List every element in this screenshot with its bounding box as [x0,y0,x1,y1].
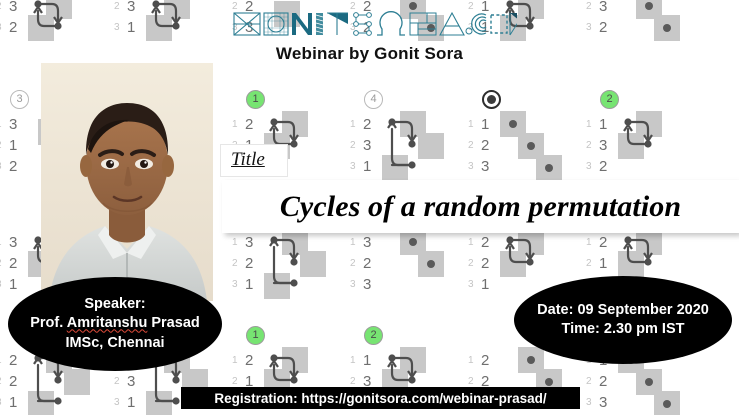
permutation-row: 11 [468,116,489,133]
permutation-row: 33 [468,158,489,175]
webinar-title: Cycles of a random permutation [280,190,681,224]
marker-pip [487,95,496,104]
webinar-poster: 2332233122332232213123323132132122233112… [0,0,739,415]
speaker-name-prefix: Prof. [30,315,67,331]
speaker-name: Prof. Amritanshu Prasad [30,314,200,333]
speaker-heading: Speaker: [30,295,200,314]
registration-bar[interactable]: Registration: https://gonitsora.com/webi… [181,387,580,409]
cycle-count-marker [482,90,501,109]
title-label-text: Title [231,149,265,171]
permutation-value: 2 [599,373,607,390]
permutation-value: 1 [481,116,489,133]
speaker-bubble: Speaker: Prof. Amritanshu Prasad IMSc, C… [8,277,222,371]
permutation-row: 22 [586,373,607,390]
schedule-date: Date: 09 September 2020 [537,301,709,320]
schedule-time: Time: 2.30 pm IST [537,320,709,339]
permutation-value: 3 [599,394,607,411]
permutation-row: 22 [468,137,489,154]
permutation-value: 2 [481,137,489,154]
permutation-value: 3 [481,158,489,175]
title-label-box: Title [220,144,288,177]
permutation-row: 33 [586,394,607,411]
title-banner: Cycles of a random permutation [222,180,739,233]
schedule-text: Date: 09 September 2020 Time: 2.30 pm IS… [537,301,709,339]
permutation-index: 1 [468,119,481,130]
speaker-first-name: Amritanshu [67,315,148,331]
permutation-index: 3 [586,397,599,408]
matrix-cell [654,391,680,415]
permutation-index: 3 [468,161,481,172]
gonit-sora-logo [232,4,517,44]
matrix-cell [536,155,562,181]
permutation-index: 2 [586,376,599,387]
webinar-subtitle: Webinar by Gonit Sora [0,44,739,64]
speaker-photo [41,63,213,301]
speaker-affiliation: IMSc, Chennai [30,334,200,353]
permutation-index: 2 [468,140,481,151]
speaker-last-name: Prasad [147,315,199,331]
registration-link[interactable]: Registration: https://gonitsora.com/webi… [214,391,546,406]
schedule-bubble: Date: 09 September 2020 Time: 2.30 pm IS… [514,276,732,364]
speaker-text: Speaker: Prof. Amritanshu Prasad IMSc, C… [30,295,200,352]
